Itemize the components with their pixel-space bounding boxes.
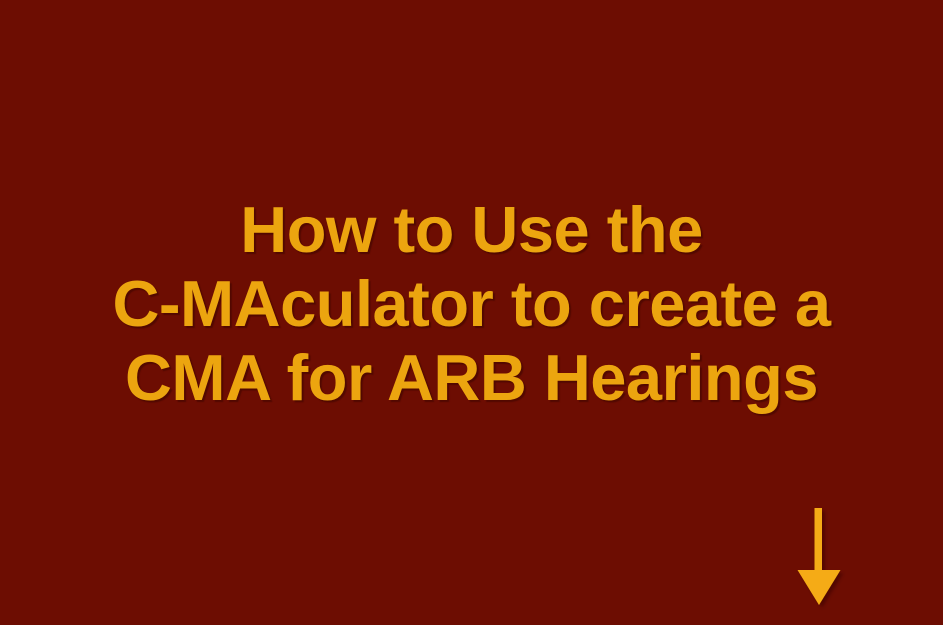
presentation-slide: How to Use the C-MAculator to create a C… <box>0 0 943 625</box>
title-line-1: How to Use the <box>40 193 903 267</box>
title-line-3: CMA for ARB Hearings <box>40 341 903 415</box>
slide-title: How to Use the C-MAculator to create a C… <box>0 193 943 415</box>
title-line-2: C-MAculator to create a <box>40 267 903 341</box>
arrow-down-icon <box>796 508 842 608</box>
